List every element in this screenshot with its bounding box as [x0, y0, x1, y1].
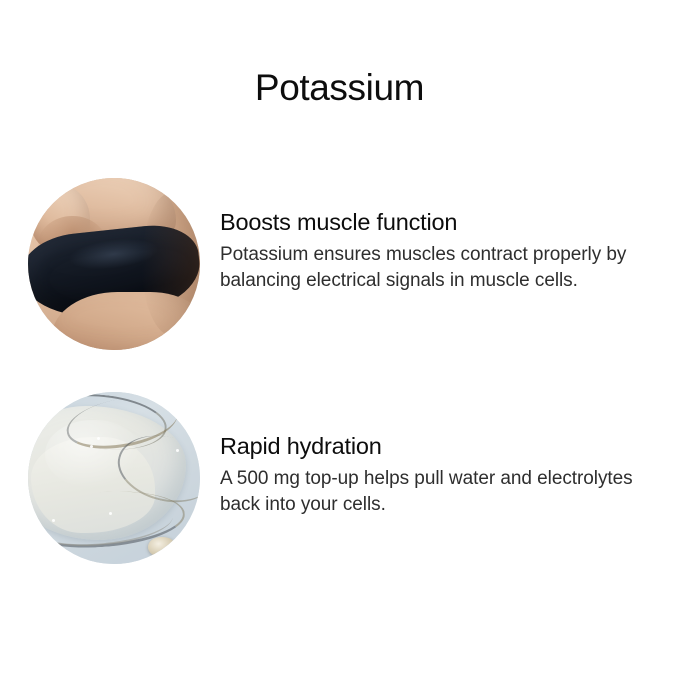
- liquid-macro-photo: [28, 392, 200, 564]
- right-edge-shadow: [142, 192, 200, 336]
- feature-copy-rapid-hydration: Rapid hydration A 500 mg top-up helps pu…: [220, 432, 650, 518]
- photo-layers: [28, 392, 200, 564]
- highlight-speck: [97, 437, 100, 440]
- feature-heading: Boosts muscle function: [220, 208, 650, 237]
- athlete-torso-photo: [28, 178, 200, 350]
- page-title: Potassium: [0, 65, 679, 111]
- liquid-droplet: [148, 537, 176, 558]
- feature-body-text: A 500 mg top-up helps pull water and ele…: [220, 466, 650, 518]
- feature-copy-muscle-function: Boosts muscle function Potassium ensures…: [220, 208, 650, 294]
- infographic-page: Potassium Boosts muscle function Potassi…: [0, 0, 679, 679]
- highlight-speck: [176, 449, 179, 452]
- feature-heading: Rapid hydration: [220, 432, 650, 461]
- photo-layers: [28, 178, 200, 350]
- feature-body-text: Potassium ensures muscles contract prope…: [220, 242, 650, 294]
